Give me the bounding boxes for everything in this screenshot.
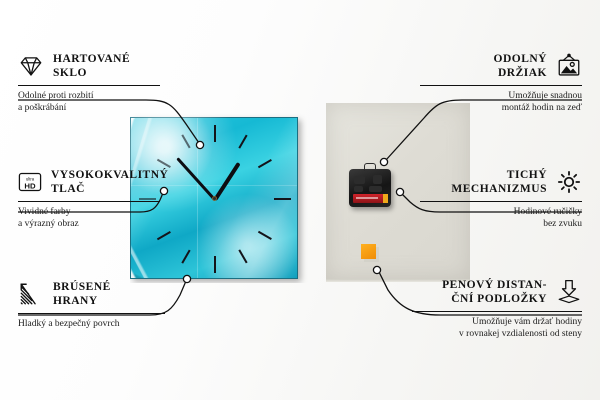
feature-durable-hanger-desc: Umožňuje snadnou montáž hodin na zeď	[420, 90, 582, 114]
feature-ground-edges-desc: Hladký a bezpečný povrch	[18, 318, 183, 330]
feature-durable-hanger-title: ODOLNÝ DRŽIAK	[494, 52, 547, 80]
feature-tempered-glass-title: HARTOVANÉ SKLO	[53, 52, 130, 80]
feature-silent-mechanism-desc: Hodinové ručičky bez zvuku	[420, 206, 582, 230]
feature-durable-hanger-rule	[420, 85, 582, 86]
feature-silent-mechanism: TICHÝ MECHANIZMUS Hodinové ručičky bez z…	[420, 168, 582, 230]
feature-foam-pads-head: PENOVÝ DISTAN- ČNÍ PODLOŽKY	[412, 278, 582, 306]
feature-ground-edges-rule	[18, 313, 165, 314]
feature-silent-mechanism-head: TICHÝ MECHANIZMUS	[420, 168, 582, 196]
product-infographic: HARTOVANÉ SKLO Odolné proti rozbití a po…	[0, 0, 600, 400]
feature-tempered-glass: HARTOVANÉ SKLO Odolné proti rozbití a po…	[18, 52, 178, 114]
feature-print-quality-rule	[18, 201, 160, 202]
connector-node-left-3	[183, 275, 190, 282]
connector-node-left-1	[196, 141, 203, 148]
feature-silent-mechanism-rule	[420, 201, 582, 202]
diamond-icon	[18, 53, 44, 79]
feature-durable-hanger-head: ODOLNÝ DRŽIAK	[420, 52, 582, 80]
feature-foam-pads-title: PENOVÝ DISTAN- ČNÍ PODLOŽKY	[442, 278, 547, 306]
feature-tempered-glass-rule	[18, 85, 160, 86]
connector-node-right-2	[396, 188, 403, 195]
ultra-hd-icon: ultra HD	[18, 171, 42, 193]
connector-node-right-1	[380, 158, 387, 165]
feature-print-quality: ultra HD VYSOKOKVALITNÝ TLAČ Vividné far…	[18, 168, 178, 230]
feature-silent-mechanism-title: TICHÝ MECHANIZMUS	[451, 168, 547, 196]
feature-ground-edges-head: BRÚSENÉ HRANY	[18, 280, 183, 308]
feature-foam-pads: PENOVÝ DISTAN- ČNÍ PODLOŽKY Umožňuje vám…	[412, 278, 582, 340]
feature-print-quality-title: VYSOKOKVALITNÝ TLAČ	[51, 168, 168, 196]
feature-print-quality-desc: Vividné farby a výrazný obraz	[18, 206, 178, 230]
feature-ground-edges-title: BRÚSENÉ HRANY	[53, 280, 111, 308]
feature-durable-hanger: ODOLNÝ DRŽIAK Umožňuje snadnou montáž ho…	[420, 52, 582, 114]
feature-print-quality-head: ultra HD VYSOKOKVALITNÝ TLAČ	[18, 168, 178, 196]
feature-foam-pads-desc: Umožňuje vám držať hodiny v rovnakej vzd…	[412, 316, 582, 340]
feature-foam-pads-rule	[412, 311, 582, 312]
svg-text:HD: HD	[24, 181, 36, 190]
gear-icon	[556, 169, 582, 195]
connector-node-right-3	[373, 266, 380, 273]
feature-tempered-glass-head: HARTOVANÉ SKLO	[18, 52, 178, 80]
ground-edges-icon	[18, 281, 44, 307]
feature-tempered-glass-desc: Odolné proti rozbití a poškrábání	[18, 90, 178, 114]
foam-pads-icon	[556, 279, 582, 305]
picture-hanger-icon	[556, 53, 582, 79]
feature-ground-edges: BRÚSENÉ HRANY Hladký a bezpečný povrch	[18, 280, 183, 330]
